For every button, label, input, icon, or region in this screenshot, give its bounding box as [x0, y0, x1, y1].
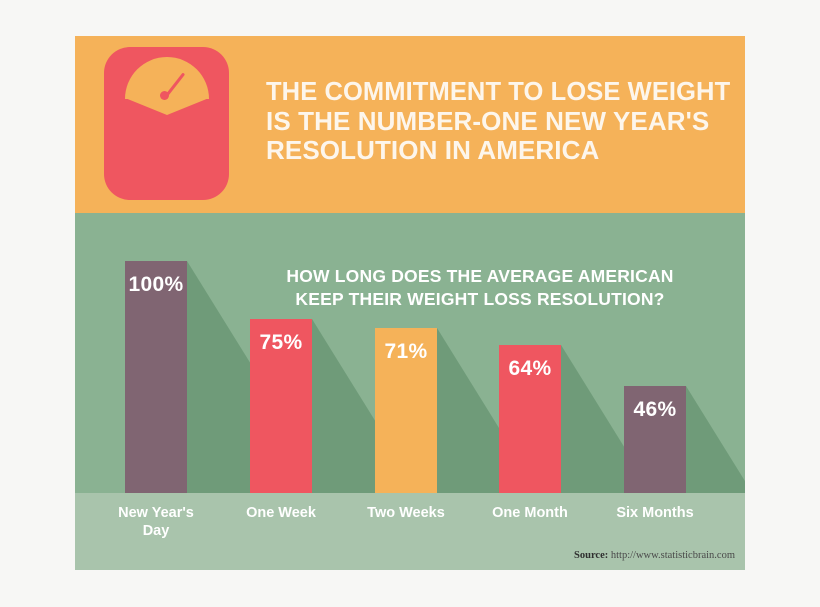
source-label: Source:: [574, 550, 608, 561]
title-line-2: IS THE NUMBER-ONE NEW YEAR'S: [266, 107, 726, 136]
category-label-one-week: One Week: [226, 504, 336, 522]
category-label-line: One Month: [475, 504, 585, 522]
category-label-line: Six Months: [600, 504, 710, 522]
bathroom-scale-icon: [104, 47, 229, 200]
bar-group: 46%: [624, 386, 745, 493]
bar-value-label: 71%: [375, 340, 437, 364]
scale-dial-skirt-shape: [125, 98, 209, 115]
scale-needle-hub-icon: [160, 91, 169, 100]
bar-value-label: 100%: [125, 273, 187, 297]
bar-value-label: 64%: [499, 357, 561, 381]
source-credit: Source: http://www.statisticbrain.com: [574, 550, 735, 561]
bar-value-label: 75%: [250, 331, 312, 355]
category-label-one-month: One Month: [475, 504, 585, 522]
bar-shadow: [686, 386, 745, 493]
category-label-new-year-s-day: New Year'sDay: [101, 504, 211, 541]
page-title: THE COMMITMENT TO LOSE WEIGHT IS THE NUM…: [266, 78, 726, 165]
title-line-1: THE COMMITMENT TO LOSE WEIGHT: [266, 78, 726, 107]
category-label-line: One Week: [226, 504, 336, 522]
title-line-3: RESOLUTION IN AMERICA: [266, 136, 726, 165]
infographic-canvas: THE COMMITMENT TO LOSE WEIGHT IS THE NUM…: [0, 0, 820, 607]
bar-chart-bars: 100%75%71%64%46%: [75, 213, 745, 493]
bar-value-label: 46%: [624, 398, 686, 422]
infographic-card: THE COMMITMENT TO LOSE WEIGHT IS THE NUM…: [75, 36, 745, 570]
category-label-line: Day: [101, 522, 211, 540]
header-banner: THE COMMITMENT TO LOSE WEIGHT IS THE NUM…: [75, 36, 745, 213]
category-label-line: New Year's: [101, 504, 211, 522]
source-url: http://www.statisticbrain.com: [611, 550, 735, 561]
category-label-two-weeks: Two Weeks: [351, 504, 461, 522]
category-label-line: Two Weeks: [351, 504, 461, 522]
chart-panel: HOW LONG DOES THE AVERAGE AMERICAN KEEP …: [75, 213, 745, 493]
category-label-six-months: Six Months: [600, 504, 710, 522]
chart-footer: New Year'sDayOne WeekTwo WeeksOne MonthS…: [75, 493, 745, 570]
